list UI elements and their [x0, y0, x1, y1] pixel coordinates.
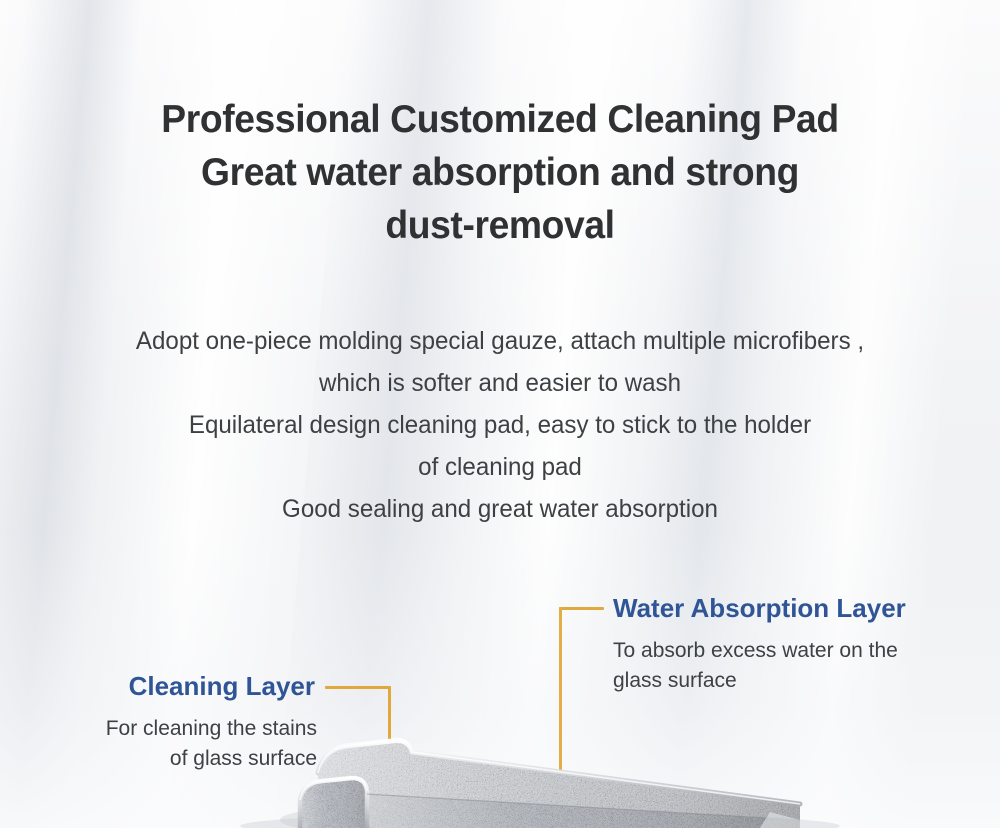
page-title: Professional Customized Cleaning Pad Gre… [23, 100, 978, 258]
leader-line-water-absorption-vertical [559, 607, 562, 828]
description-line-3: Equilateral design cleaning pad, easy to… [18, 404, 983, 446]
callout-cleaning-layer-title: Cleaning Layer [0, 672, 317, 701]
callout-cleaning-layer-body-line-2: of glass surface [0, 744, 317, 774]
leader-line-cleaning-layer-vertical [388, 686, 391, 828]
product-feature-banner: Professional Customized Cleaning Pad Gre… [0, 0, 1000, 828]
description-line-5: Good sealing and great water absorption [18, 488, 983, 530]
headline-line-2: Great water absorption and strong [23, 153, 978, 206]
callout-water-absorption-layer-body-line-1: To absorb excess water on the [613, 636, 993, 666]
callout-water-absorption-layer-body: To absorb excess water on the glass surf… [613, 623, 993, 696]
headline-line-3: dust-removal [23, 206, 978, 259]
callout-cleaning-layer-body: For cleaning the stains of glass surface [0, 701, 317, 774]
callout-water-absorption-layer: Water Absorption Layer To absorb excess … [613, 594, 993, 696]
callout-cleaning-layer-body-line-1: For cleaning the stains [0, 714, 317, 744]
description-line-2: which is softer and easier to wash [18, 362, 983, 404]
callout-water-absorption-layer-body-line-2: glass surface [613, 666, 993, 696]
description-line-1: Adopt one-piece molding special gauze, a… [18, 320, 983, 362]
leader-line-water-absorption-horizontal [559, 607, 604, 610]
headline-line-1: Professional Customized Cleaning Pad [23, 100, 978, 153]
description-paragraph: Adopt one-piece molding special gauze, a… [18, 320, 983, 530]
description-line-4: of cleaning pad [18, 446, 983, 488]
callout-water-absorption-layer-title: Water Absorption Layer [613, 594, 993, 623]
callout-cleaning-layer: Cleaning Layer For cleaning the stains o… [0, 672, 317, 774]
leader-line-cleaning-layer-horizontal [325, 686, 391, 689]
